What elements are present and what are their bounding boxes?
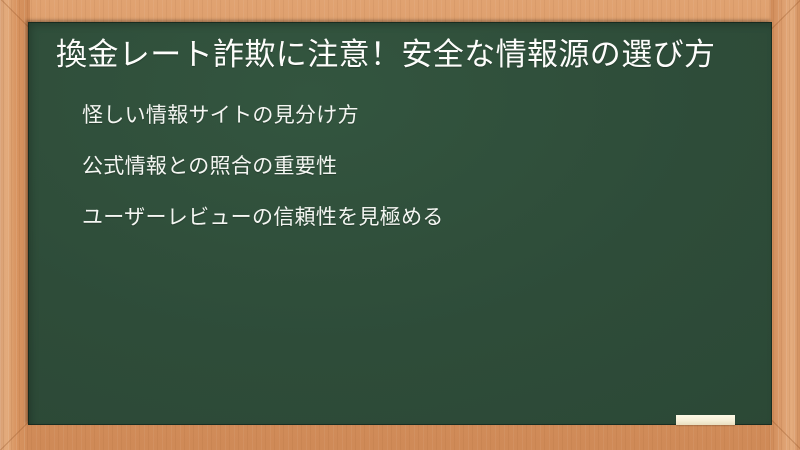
chalkboard-surface: 換金レート詐欺に注意！安全な情報源の選び方 怪しい情報サイトの見分け方 公式情報… <box>28 22 772 425</box>
page-title: 換金レート詐欺に注意！安全な情報源の選び方 <box>56 34 746 75</box>
chalk-stick <box>676 415 735 425</box>
list-item: ユーザーレビューの信頼性を見極める <box>82 207 746 228</box>
topic-list: 怪しい情報サイトの見分け方 公式情報との照合の重要性 ユーザーレビューの信頼性を… <box>56 105 746 228</box>
frame-rail-left <box>0 0 30 450</box>
frame-rail-right <box>770 0 800 450</box>
list-item: 公式情報との照合の重要性 <box>82 156 746 177</box>
chalkboard-content: 換金レート詐欺に注意！安全な情報源の選び方 怪しい情報サイトの見分け方 公式情報… <box>28 22 772 425</box>
list-item: 怪しい情報サイトの見分け方 <box>82 105 746 126</box>
chalkboard-slide: 換金レート詐欺に注意！安全な情報源の選び方 怪しい情報サイトの見分け方 公式情報… <box>0 0 800 450</box>
